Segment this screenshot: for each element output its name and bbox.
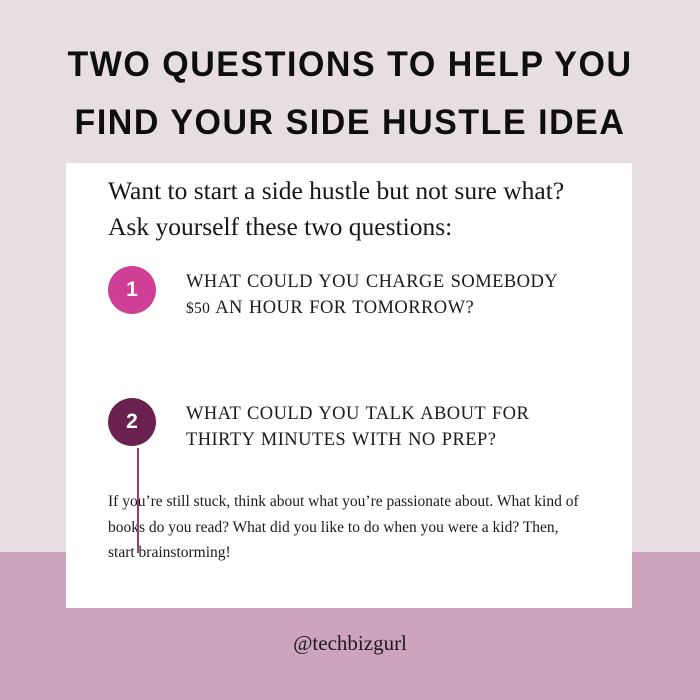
question-number-badge-1: 1 <box>108 266 156 314</box>
poster-canvas: TWO QUESTIONS TO HELP YOU FIND YOUR SIDE… <box>0 0 700 700</box>
headline-line-1: TWO QUESTIONS TO HELP YOU <box>11 36 690 94</box>
social-handle: @techbizgurl <box>0 631 700 656</box>
headline: TWO QUESTIONS TO HELP YOU FIND YOUR SIDE… <box>0 36 700 152</box>
question-2-part-before: WHAT COULD YOU TALK ABOUT FOR THIRTY MIN… <box>186 404 529 450</box>
question-1-part-after: AN HOUR FOR TOMORROW? <box>210 298 474 318</box>
question-1-amount: $50 <box>186 300 210 317</box>
intro-text: Want to start a side hustle but not sure… <box>108 173 598 245</box>
content-card: Want to start a side hustle but not sure… <box>66 163 632 608</box>
question-1-part-before: WHAT COULD YOU CHARGE SOMEBODY <box>186 272 557 292</box>
question-text-1: WHAT COULD YOU CHARGE SOMEBODY $50 AN HO… <box>186 269 586 322</box>
question-text-2: WHAT COULD YOU TALK ABOUT FOR THIRTY MIN… <box>186 401 586 453</box>
bullet-connector-line <box>137 448 139 553</box>
closing-paragraph: If you’re still stuck, think about what … <box>108 489 588 566</box>
question-number-badge-2: 2 <box>108 398 156 446</box>
headline-line-2: FIND YOUR SIDE HUSTLE IDEA <box>11 94 690 152</box>
